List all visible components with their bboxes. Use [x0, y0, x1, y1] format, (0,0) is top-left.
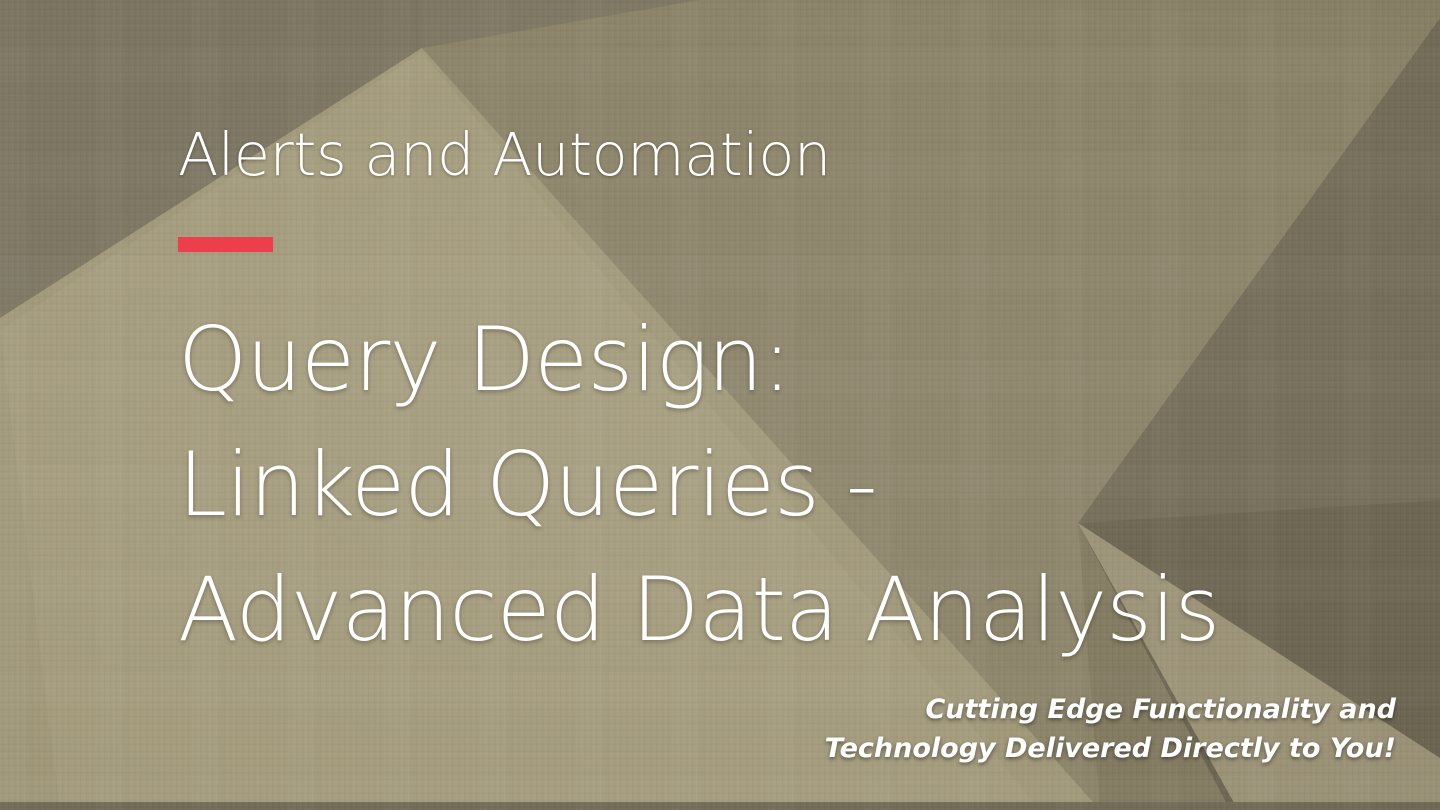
- tagline-line-2: Technology Delivered Directly to You!: [825, 730, 1396, 768]
- slide-main-title: Query Design: Linked Queries - Advanced …: [178, 298, 1278, 673]
- main-title-line-2: Linked Queries -: [178, 423, 1278, 548]
- slide-tagline: Cutting Edge Functionality and Technolog…: [825, 691, 1396, 768]
- presentation-slide: Alerts and Automation Query Design: Link…: [0, 0, 1440, 810]
- accent-bar: [178, 237, 273, 252]
- slide-content: Alerts and Automation Query Design: Link…: [0, 0, 1440, 810]
- slide-eyebrow-title: Alerts and Automation: [178, 124, 831, 186]
- tagline-line-1: Cutting Edge Functionality and: [825, 691, 1396, 729]
- main-title-line-3: Advanced Data Analysis: [178, 548, 1278, 673]
- main-title-line-1: Query Design:: [178, 298, 1278, 423]
